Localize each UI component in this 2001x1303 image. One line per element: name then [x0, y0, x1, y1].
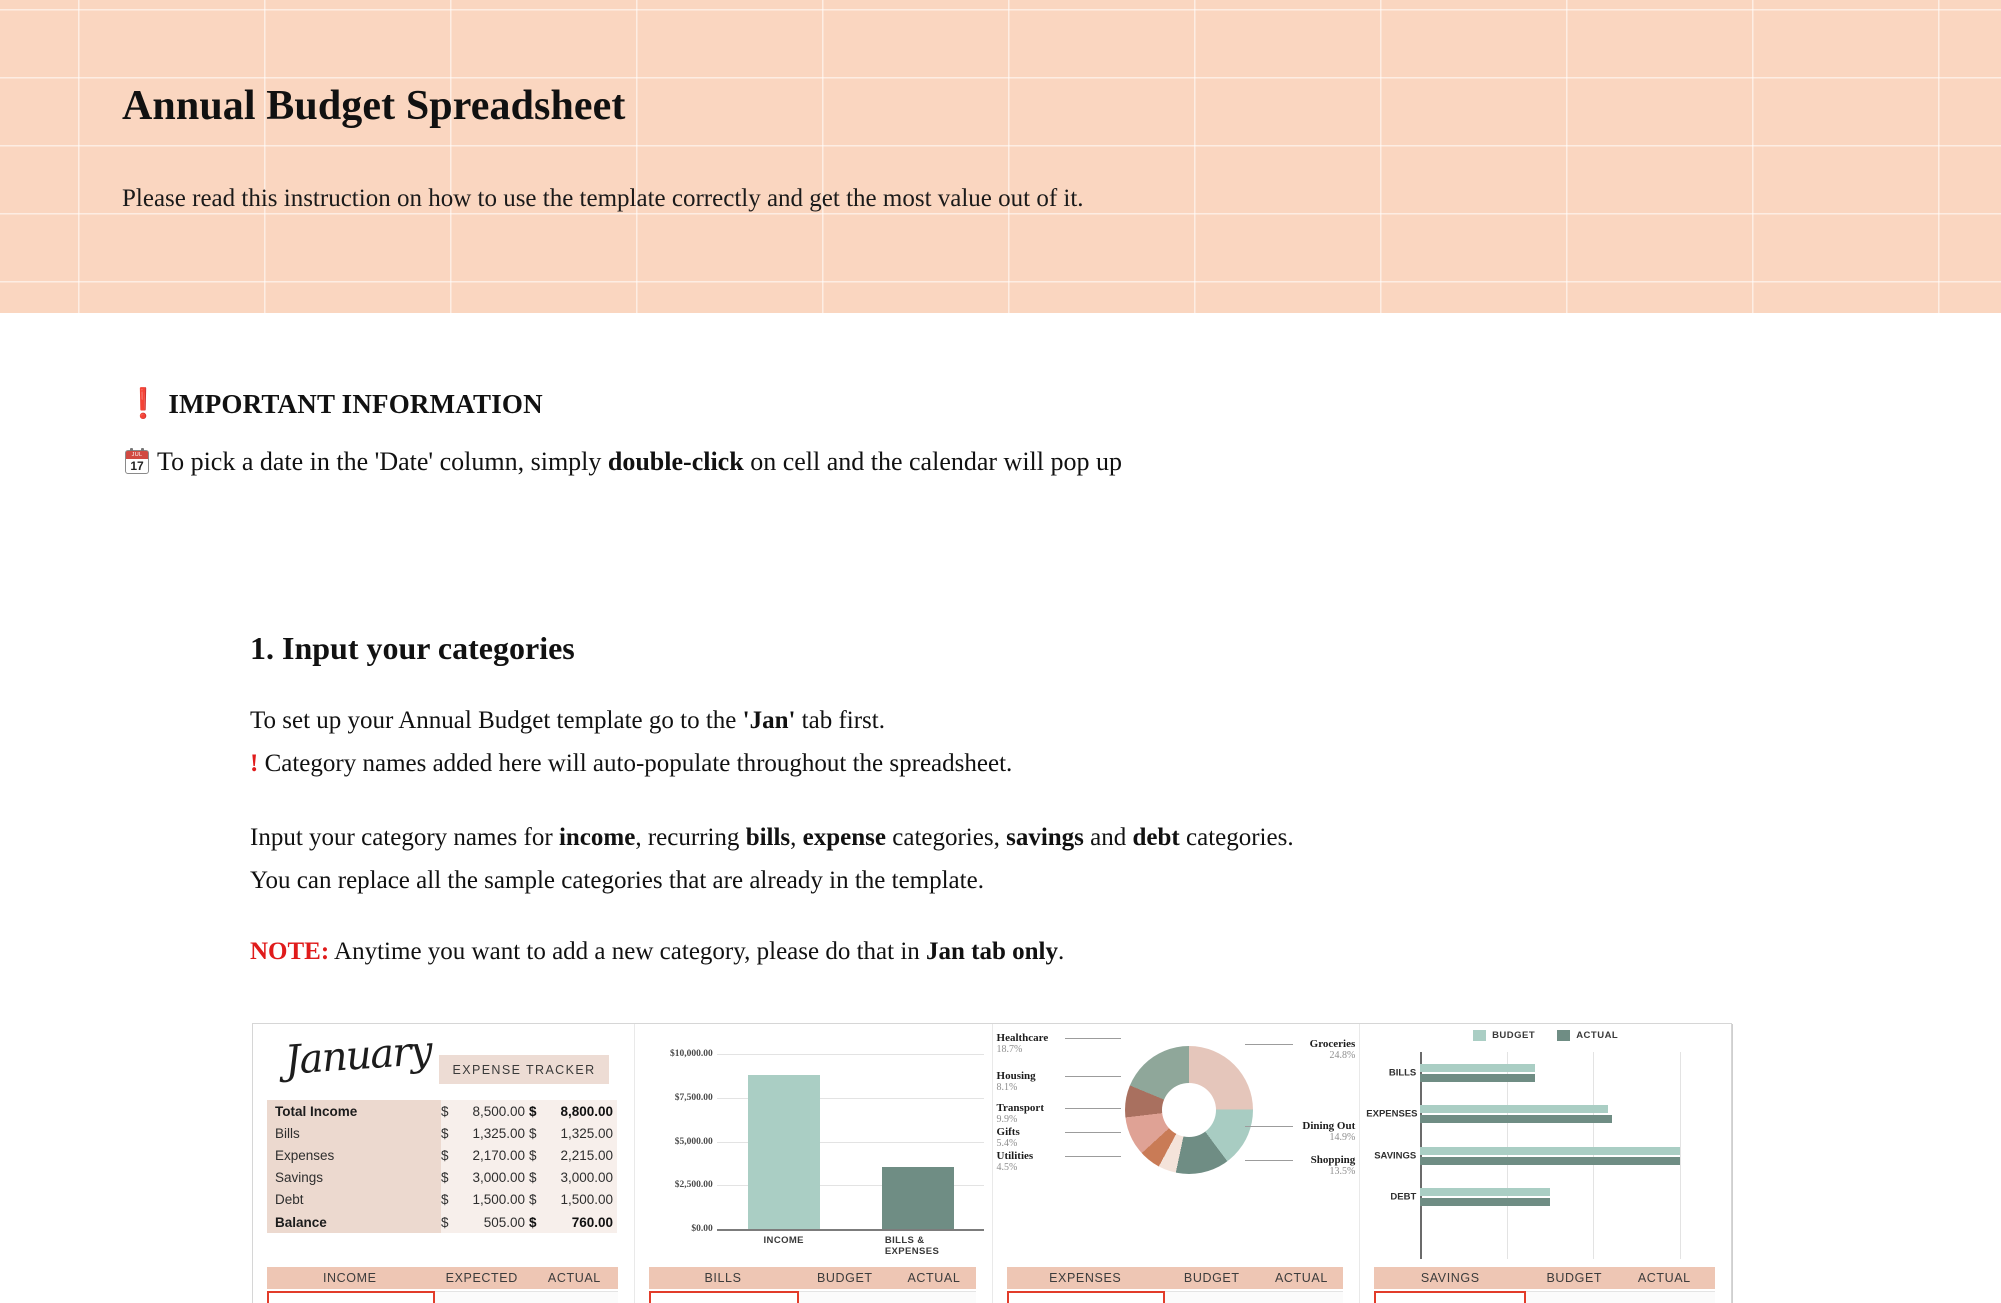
summary-row-expected: $8,500.00 [441, 1100, 529, 1122]
donut-slice-value: 13.5% [1311, 1166, 1356, 1177]
p1-text-a: To set up your Annual Budget template go… [250, 707, 743, 734]
donut-label: Shopping13.5% [1311, 1154, 1356, 1177]
banner-grid-pattern [0, 0, 2001, 313]
bills-values-cell[interactable] [799, 1291, 976, 1303]
donut-slice-label: Transport [997, 1102, 1044, 1114]
donut-label: Housing8.1% [997, 1070, 1036, 1093]
p1-text-c: tab first. [795, 707, 885, 734]
donut-slice-label: Gifts [997, 1126, 1020, 1138]
chart-bar [1420, 1074, 1535, 1082]
savings-input-row[interactable] [1374, 1291, 1715, 1303]
y-axis-tick-label: $7,500.00 [645, 1093, 713, 1103]
chart-bar [1420, 1147, 1679, 1155]
donut-leader-line [1065, 1132, 1121, 1133]
income-input-row[interactable] [267, 1291, 618, 1303]
section-1-paragraph-4: You can replace all the sample categorie… [250, 867, 984, 895]
savings-actual-col-header: ACTUAL [1622, 1271, 1706, 1285]
preview-panes: January EXPENSE TRACKER Total Income$8,5… [253, 1024, 1731, 1303]
bills-input-row[interactable] [649, 1291, 976, 1303]
p2-text: Category names added here will auto-popu… [258, 750, 1012, 777]
section-1-paragraph-2: ! Category names added here will auto-po… [250, 750, 1012, 778]
chart-bar [748, 1075, 820, 1229]
instruction-bold: double-click [608, 447, 744, 476]
preview-pane-column-chart: $10,000.00$7,500.00$5,000.00$2,500.00$0.… [635, 1024, 992, 1303]
donut-leader-line [1065, 1076, 1121, 1077]
income-vs-expenses-chart: $10,000.00$7,500.00$5,000.00$2,500.00$0.… [645, 1054, 984, 1261]
instruction-suffix: on cell and the calendar will pop up [744, 447, 1122, 476]
summary-row: Expenses$2,170.00$2,215.00 [267, 1144, 619, 1166]
donut-slice-label: Utilities [997, 1150, 1034, 1162]
summary-row-label: Debt [267, 1189, 441, 1211]
page-banner: Annual Budget Spreadsheet Please read th… [0, 0, 2001, 313]
summary-row-expected: $1,325.00 [441, 1122, 529, 1144]
summary-row: Bills$1,325.00$1,325.00 [267, 1122, 619, 1144]
section-1-paragraph-3: Input your category names for income, re… [250, 824, 1294, 852]
expense-breakdown-donut: Groceries24.8%Dining Out14.9%Shopping13.… [993, 1024, 1360, 1303]
note-label: NOTE: [250, 938, 329, 965]
expense-tracker-header: EXPENSE TRACKER [439, 1055, 609, 1084]
budget-vs-actual-chart: BILLSEXPENSESSAVINGSDEBT$ -$ 1,000.00$ 2… [1366, 1052, 1721, 1259]
summary-row: Savings$3,000.00$3,000.00 [267, 1167, 619, 1189]
chart-bar [1420, 1198, 1550, 1206]
date-picker-instruction: JUL 17 To pick a date in the 'Date' colu… [125, 447, 1122, 477]
calendar-icon: JUL 17 [125, 450, 149, 474]
donut-label: Healthcare18.7% [997, 1032, 1049, 1055]
gridline [1680, 1052, 1681, 1259]
month-title: January [283, 1028, 432, 1084]
donut-leader-line [1245, 1044, 1293, 1045]
y-axis-tick-label: $0.00 [645, 1224, 713, 1234]
p3-f: categories. [1180, 824, 1294, 851]
donut-leader-line [1245, 1160, 1293, 1161]
important-heading-label: IMPORTANT INFORMATION [168, 389, 543, 419]
donut-slice-value: 18.7% [997, 1044, 1049, 1055]
income-table-header: INCOME EXPECTED ACTUAL [267, 1267, 618, 1289]
chart-bar [1420, 1188, 1550, 1196]
gridline [1593, 1052, 1594, 1259]
donut-slice-label: Housing [997, 1070, 1036, 1082]
summary-row-actual: $760.00 [529, 1211, 617, 1233]
chart-bar [882, 1167, 954, 1229]
chart-bar [1420, 1105, 1608, 1113]
p3-c: , [790, 824, 803, 851]
chart-bar [1420, 1157, 1679, 1165]
y-axis-tick-label: SAVINGS [1366, 1150, 1416, 1161]
chart-bar [1420, 1115, 1611, 1123]
donut-slice-value: 14.9% [1302, 1132, 1355, 1143]
p3-income: income [559, 824, 635, 851]
p3-d: categories, [886, 824, 1006, 851]
preview-pane-budget-actual-chart: BUDGET ACTUAL BILLSEXPENSESSAVINGSDEBT$ … [1360, 1024, 1731, 1303]
savings-values-cell[interactable] [1526, 1291, 1715, 1303]
calendar-month-label: JUL [126, 451, 148, 459]
donut-slice-value: 4.5% [997, 1162, 1034, 1173]
donut-label: Groceries24.8% [1310, 1038, 1356, 1061]
donut-leader-line [1065, 1108, 1121, 1109]
x-axis-tick-label: INCOME [764, 1235, 804, 1246]
spreadsheet-preview-image: January EXPENSE TRACKER Total Income$8,5… [252, 1023, 1732, 1303]
p3-debt: debt [1133, 824, 1180, 851]
expenses-budget-col-header: BUDGET [1164, 1271, 1260, 1285]
savings-name-cell[interactable] [1374, 1291, 1526, 1303]
instruction-text: To pick a date in the 'Date' column, sim… [157, 447, 1122, 477]
income-name-cell[interactable] [267, 1291, 435, 1303]
donut-label: Dining Out14.9% [1302, 1120, 1355, 1143]
income-values-cell[interactable] [435, 1291, 618, 1303]
gridline [1507, 1052, 1508, 1259]
bills-col-header: BILLS [649, 1271, 798, 1285]
expenses-col-header: EXPENSES [1007, 1271, 1164, 1285]
y-axis-tick-label: BILLS [1366, 1067, 1416, 1078]
summary-row-label: Balance [267, 1211, 441, 1233]
chart-legend: BUDGET ACTUAL [1360, 1030, 1731, 1041]
note-text-a: Anytime you want to add a new category, … [329, 938, 926, 965]
donut-slice-label: Shopping [1311, 1154, 1356, 1166]
expenses-values-cell[interactable] [1165, 1291, 1344, 1303]
chart-bar [1420, 1064, 1535, 1072]
y-axis-tick-label: $10,000.00 [645, 1049, 713, 1059]
donut-slice-value: 8.1% [997, 1082, 1036, 1093]
summary-row-label: Total Income [267, 1100, 441, 1122]
legend-budget-swatch [1473, 1030, 1486, 1041]
gridline [717, 1054, 984, 1055]
expected-col-header: EXPECTED [433, 1271, 532, 1285]
donut-slice-label: Dining Out [1302, 1120, 1355, 1132]
x-axis-line [717, 1229, 984, 1231]
note-text-b: . [1058, 938, 1064, 965]
summary-table: Total Income$8,500.00$8,800.00Bills$1,32… [267, 1100, 619, 1233]
summary-row-label: Expenses [267, 1144, 441, 1166]
donut-slice-value: 5.4% [997, 1138, 1020, 1149]
y-axis-tick-label: $2,500.00 [645, 1180, 713, 1190]
note-bold: Jan tab only [926, 938, 1058, 965]
y-axis-line [1420, 1052, 1422, 1259]
bills-actual-col-header: ACTUAL [892, 1271, 975, 1285]
exclamation-mark-icon: ❗ [125, 388, 161, 420]
p3-savings: savings [1006, 824, 1084, 851]
y-axis-tick-label: EXPENSES [1366, 1109, 1416, 1120]
summary-row-expected: $505.00 [441, 1211, 529, 1233]
donut-slice-value: 9.9% [997, 1114, 1044, 1125]
donut-leader-line [1065, 1156, 1121, 1157]
summary-row: Debt$1,500.00$1,500.00 [267, 1189, 619, 1211]
summary-row-actual: $1,500.00 [529, 1189, 617, 1211]
important-information-heading: ❗IMPORTANT INFORMATION [125, 387, 543, 421]
summary-row: Balance$505.00$760.00 [267, 1211, 619, 1233]
summary-row-expected: $2,170.00 [441, 1144, 529, 1166]
expenses-table-header: EXPENSES BUDGET ACTUAL [1007, 1267, 1344, 1289]
preview-pane-donut-chart: Groceries24.8%Dining Out14.9%Shopping13.… [993, 1024, 1360, 1303]
p3-b: , recurring [635, 824, 745, 851]
donut-slice-label: Groceries [1310, 1038, 1356, 1050]
x-axis-tick-label: BILLS & EXPENSES [885, 1235, 951, 1257]
expenses-name-cell[interactable] [1007, 1291, 1165, 1303]
legend-actual: ACTUAL [1557, 1030, 1618, 1041]
expenses-input-row[interactable] [1007, 1291, 1344, 1303]
summary-row-label: Bills [267, 1122, 441, 1144]
income-col-header: INCOME [267, 1271, 433, 1285]
donut-ring [1125, 1046, 1253, 1174]
actual-col-header: ACTUAL [531, 1271, 618, 1285]
summary-row-label: Savings [267, 1167, 441, 1189]
banner-subtitle: Please read this instruction on how to u… [122, 185, 1084, 213]
y-axis-tick-label: DEBT [1366, 1192, 1416, 1203]
y-axis-tick-label: $5,000.00 [645, 1137, 713, 1147]
savings-col-header: SAVINGS [1374, 1271, 1526, 1285]
bills-table-header: BILLS BUDGET ACTUAL [649, 1267, 976, 1289]
jan-tab-emphasis: 'Jan' [743, 707, 796, 734]
legend-actual-label: ACTUAL [1576, 1030, 1618, 1041]
bills-name-cell[interactable] [649, 1291, 799, 1303]
calendar-day-label: 17 [126, 459, 148, 473]
legend-actual-swatch [1557, 1030, 1570, 1041]
summary-row-actual: $8,800.00 [529, 1100, 617, 1122]
p3-a: Input your category names for [250, 824, 559, 851]
donut-label: Utilities4.5% [997, 1150, 1034, 1173]
legend-budget: BUDGET [1473, 1030, 1535, 1041]
bills-budget-col-header: BUDGET [797, 1271, 892, 1285]
donut-slice-label: Healthcare [997, 1032, 1049, 1044]
p3-bills: bills [746, 824, 790, 851]
section-1-heading: 1. Input your categories [250, 630, 575, 667]
donut-leader-line [1245, 1126, 1293, 1127]
section-1-note: NOTE: Anytime you want to add a new cate… [250, 938, 1064, 966]
instruction-prefix: To pick a date in the 'Date' column, sim… [157, 447, 608, 476]
expenses-actual-col-header: ACTUAL [1260, 1271, 1344, 1285]
savings-table-header: SAVINGS BUDGET ACTUAL [1374, 1267, 1715, 1289]
preview-pane-summary: January EXPENSE TRACKER Total Income$8,5… [253, 1024, 634, 1303]
summary-row: Total Income$8,500.00$8,800.00 [267, 1100, 619, 1122]
summary-row-expected: $1,500.00 [441, 1189, 529, 1211]
donut-slice-value: 24.8% [1310, 1050, 1356, 1061]
summary-row-actual: $1,325.00 [529, 1122, 617, 1144]
p3-expense: expense [803, 824, 886, 851]
legend-budget-label: BUDGET [1492, 1030, 1535, 1041]
section-1-paragraph-1: To set up your Annual Budget template go… [250, 707, 885, 735]
p3-e: and [1084, 824, 1133, 851]
summary-row-actual: $3,000.00 [529, 1167, 617, 1189]
savings-budget-col-header: BUDGET [1526, 1271, 1622, 1285]
summary-row-actual: $2,215.00 [529, 1144, 617, 1166]
summary-row-expected: $3,000.00 [441, 1167, 529, 1189]
donut-leader-line [1065, 1038, 1121, 1039]
donut-label: Gifts5.4% [997, 1126, 1020, 1149]
page-title: Annual Budget Spreadsheet [122, 82, 626, 130]
page-root: Annual Budget Spreadsheet Please read th… [0, 0, 2001, 1303]
donut-label: Transport9.9% [997, 1102, 1044, 1125]
